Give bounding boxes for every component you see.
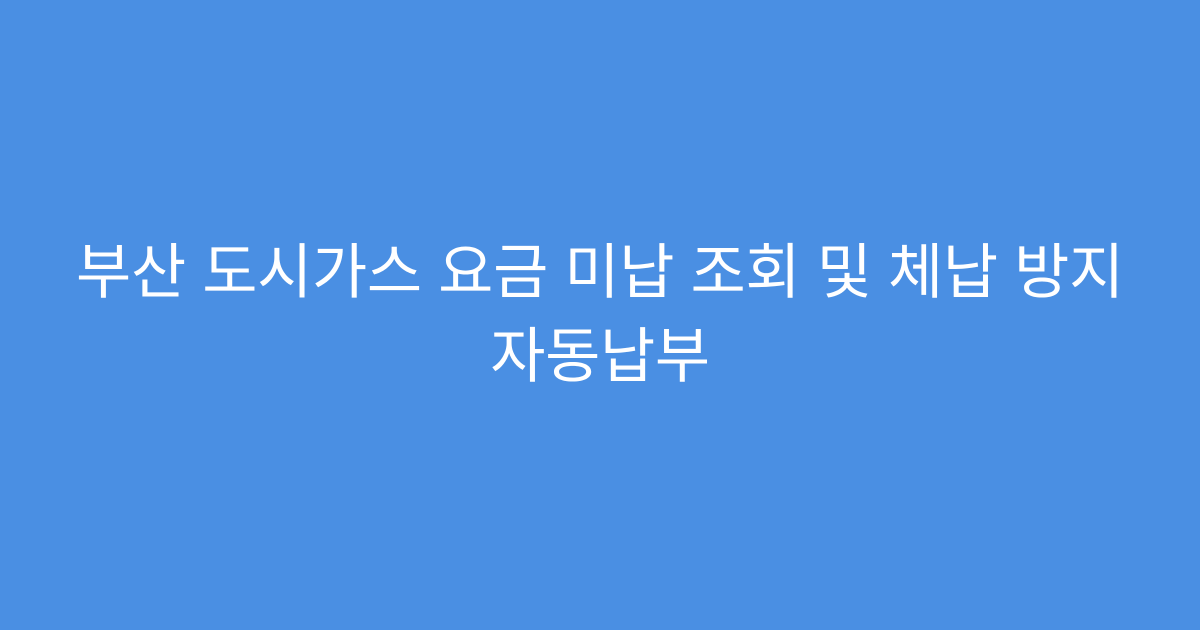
title-block: 부산 도시가스 요금 미납 조회 및 체납 방지 자동납부: [60, 231, 1140, 399]
og-title-card: 부산 도시가스 요금 미납 조회 및 체납 방지 자동납부: [0, 0, 1200, 630]
page-title: 부산 도시가스 요금 미납 조회 및 체납 방지 자동납부: [60, 231, 1140, 399]
